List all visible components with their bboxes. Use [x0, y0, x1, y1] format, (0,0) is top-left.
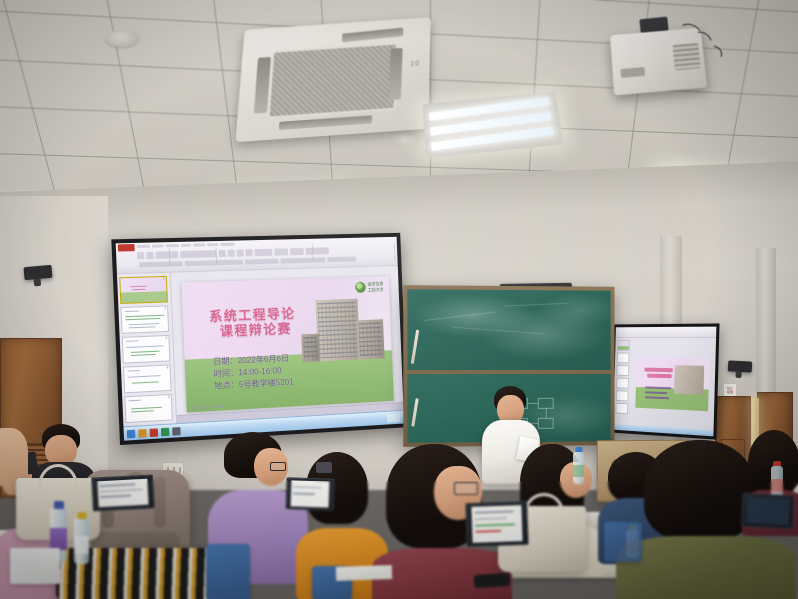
mirror-current-slide [635, 356, 709, 411]
mirror-slide-stage [629, 338, 716, 430]
shirt [616, 536, 796, 599]
slide-number: 3 [165, 336, 167, 340]
ac-unit-label: 10 [410, 60, 420, 68]
laptop-2[interactable] [285, 477, 334, 511]
logo-text-line-2: 工程大学 [368, 286, 384, 292]
ceiling-speaker-secondary-icon [390, 133, 420, 147]
ribbon-file-tab[interactable] [118, 244, 135, 252]
projection-screen-right[interactable] [611, 323, 720, 439]
current-slide[interactable]: 南京信息 工程大学 系统工程导论 课程辩论赛 日期：2022年6月6日 时间：1… [181, 276, 393, 412]
slide-thumbnail[interactable]: 1 [119, 276, 168, 304]
phone-on-desk[interactable] [474, 573, 511, 588]
papers-on-desk [336, 565, 392, 581]
glasses [454, 482, 478, 495]
chair-1 [206, 544, 250, 599]
powerpoint-window[interactable]: 1 2 3 [116, 237, 404, 441]
classroom-photo: 10 [0, 0, 798, 599]
slide-thumbnail[interactable]: 2 [120, 305, 169, 333]
laptop-4[interactable] [741, 493, 795, 530]
projector-lens-icon [620, 67, 645, 78]
tissue-box [10, 548, 60, 584]
water-bottle-3 [573, 452, 584, 484]
slide-building-photo [300, 298, 385, 366]
mirror-slide-thumbnail [615, 403, 628, 414]
taskbar-folder-icon[interactable] [138, 429, 147, 438]
slide-number: 2 [164, 306, 166, 310]
wall-camera-left [23, 265, 52, 280]
mirror-slide-thumbnail [616, 378, 629, 389]
mirror-slide-thumbnail [616, 365, 629, 376]
blackboard-upper-panel [407, 289, 610, 370]
laptop-1[interactable] [91, 474, 155, 511]
taskbar-app-icon[interactable] [161, 428, 170, 437]
slide-number: 1 [163, 277, 165, 281]
mirror-slide-thumbnail [616, 390, 629, 401]
slide-title: 系统工程导论 课程辩论赛 [209, 307, 296, 340]
slide-university-logo: 南京信息 工程大学 [355, 281, 384, 293]
wall-sign-line-2: 吸烟 [727, 391, 733, 395]
university-logo-icon [355, 282, 366, 293]
slide-thumbnail[interactable]: 5 [124, 394, 173, 423]
slide-thumbnail-panel[interactable]: 1 2 3 [117, 273, 177, 427]
mirror-slide-thumbnail [617, 352, 630, 363]
mirror-slide-thumbnail [617, 340, 630, 351]
hair-clip [316, 462, 332, 473]
mirror-ribbon [616, 327, 717, 338]
taskbar-clock[interactable] [387, 414, 400, 423]
laptop-3[interactable] [465, 501, 528, 547]
wall-camera-right [728, 360, 753, 372]
slide-thumbnail[interactable]: 3 [122, 335, 171, 364]
water-bottle-2 [74, 518, 89, 564]
powerpoint-window-mirror[interactable] [613, 327, 716, 437]
ceiling-air-conditioner: 10 [235, 17, 431, 142]
slide-stage[interactable]: 南京信息 工程大学 系统工程导论 课程辩论赛 日期：2022年6月6日 时间：1… [171, 266, 404, 423]
taskbar-powerpoint-icon[interactable] [150, 428, 159, 437]
taskbar-app-icon-2[interactable] [172, 427, 181, 436]
slide-thumbnail[interactable]: 4 [123, 364, 172, 393]
ceiling-speaker-icon [105, 30, 139, 47]
slide-number: 5 [168, 395, 170, 399]
taskbar-start-icon[interactable] [127, 430, 136, 439]
slide-title-line-2: 课程辩论赛 [220, 321, 297, 339]
slide-number: 4 [167, 366, 169, 370]
slide-meta-block: 日期：2022年6月6日 时间：14:00-16:00 地点：5号教学楼5201 [213, 353, 294, 393]
hair [644, 440, 756, 540]
glasses [270, 462, 286, 471]
projection-screen-main[interactable]: 1 2 3 [111, 233, 408, 445]
chair-3 [604, 522, 642, 562]
